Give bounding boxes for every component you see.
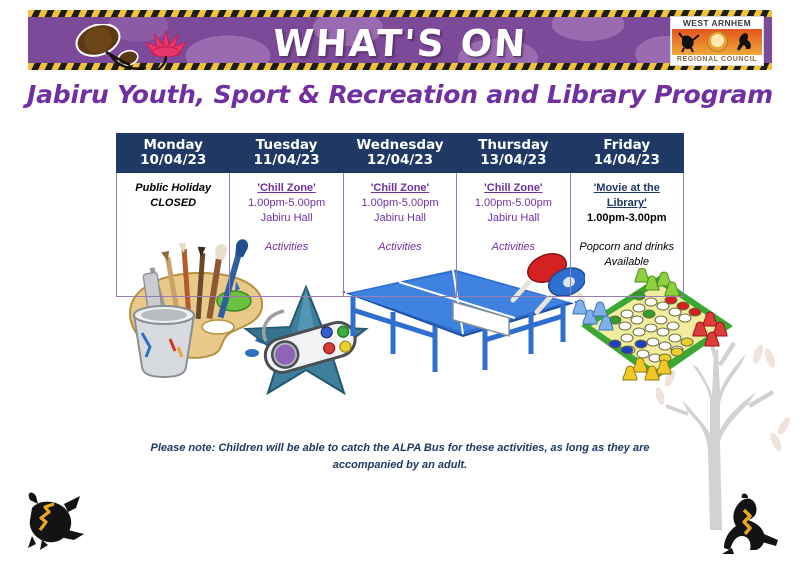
activity-note-2: Available <box>574 255 680 270</box>
banner: WHAT'S ON WEST ARNHEM REGIONAL COUNCIL <box>28 10 772 70</box>
day-header-thursday: Thursday 13/04/23 <box>457 134 570 173</box>
day-date: 13/04/23 <box>459 153 567 168</box>
day-date: 12/04/23 <box>346 153 454 168</box>
turtle-icon <box>18 490 88 550</box>
logo-bottom-text: REGIONAL COUNCIL <box>677 55 757 64</box>
page-title: Jabiru Youth, Sport & Recreation and Lib… <box>0 80 800 109</box>
activity-venue: Jabiru Hall <box>347 211 453 226</box>
logo-top-text: WEST ARNHEM <box>683 18 751 28</box>
activity-time: 1.00pm-3.00pm <box>574 211 680 226</box>
goanna-icon <box>678 31 700 53</box>
logo-sun-emblem <box>707 31 728 52</box>
cell-monday: Public Holiday CLOSED <box>117 173 230 297</box>
day-date: 14/04/23 <box>573 153 681 168</box>
day-header-tuesday: Tuesday 11/04/23 <box>230 134 343 173</box>
activity-note: Activities <box>233 240 339 255</box>
day-name: Friday <box>573 138 681 153</box>
table-header-row: Monday 10/04/23 Tuesday 11/04/23 Wednesd… <box>117 134 684 173</box>
day-header-monday: Monday 10/04/23 <box>117 134 230 173</box>
activity-venue: Jabiru Hall <box>233 211 339 226</box>
day-date: 11/04/23 <box>232 153 340 168</box>
dancer-icon <box>734 31 756 53</box>
footer-note: Please note: Children will be able to ca… <box>140 440 660 474</box>
activity-title: 'Chill Zone' <box>460 181 566 196</box>
cell-friday: 'Movie at the Library' 1.00pm-3.00pm Pop… <box>570 173 683 297</box>
activity-title: Public Holiday <box>120 181 226 196</box>
day-header-friday: Friday 14/04/23 <box>570 134 683 173</box>
activity-venue: Jabiru Hall <box>460 211 566 226</box>
poster-page: WHAT'S ON WEST ARNHEM REGIONAL COUNCIL J… <box>0 0 800 563</box>
day-header-wednesday: Wednesday 12/04/23 <box>343 134 456 173</box>
activity-title: 'Chill Zone' <box>233 181 339 196</box>
council-logo: WEST ARNHEM REGIONAL COUNCIL <box>670 16 764 66</box>
activity-note: Popcorn and drinks <box>574 240 680 255</box>
cell-thursday: 'Chill Zone' 1.00pm-5.00pm Jabiru Hall A… <box>457 173 570 297</box>
day-date: 10/04/23 <box>119 153 227 168</box>
cell-wednesday: 'Chill Zone' 1.00pm-5.00pm Jabiru Hall A… <box>343 173 456 297</box>
day-name: Tuesday <box>232 138 340 153</box>
table-row: Public Holiday CLOSED 'Chill Zone' 1.00p… <box>117 173 684 297</box>
activity-title: 'Movie at the Library' <box>574 181 680 211</box>
kangaroo-icon <box>718 492 782 554</box>
banner-headline: WHAT'S ON <box>28 16 772 70</box>
activity-note: Activities <box>460 240 566 255</box>
activity-time: 1.00pm-5.00pm <box>460 196 566 211</box>
activity-note: Activities <box>347 240 453 255</box>
activity-status: CLOSED <box>120 196 226 211</box>
logo-artwork <box>672 29 762 55</box>
day-name: Thursday <box>459 138 567 153</box>
day-name: Monday <box>119 138 227 153</box>
activity-time: 1.00pm-5.00pm <box>233 196 339 211</box>
schedule-table: Monday 10/04/23 Tuesday 11/04/23 Wednesd… <box>116 133 684 297</box>
cell-tuesday: 'Chill Zone' 1.00pm-5.00pm Jabiru Hall A… <box>230 173 343 297</box>
day-name: Wednesday <box>346 138 454 153</box>
activity-time: 1.00pm-5.00pm <box>347 196 453 211</box>
activity-title: 'Chill Zone' <box>347 181 453 196</box>
